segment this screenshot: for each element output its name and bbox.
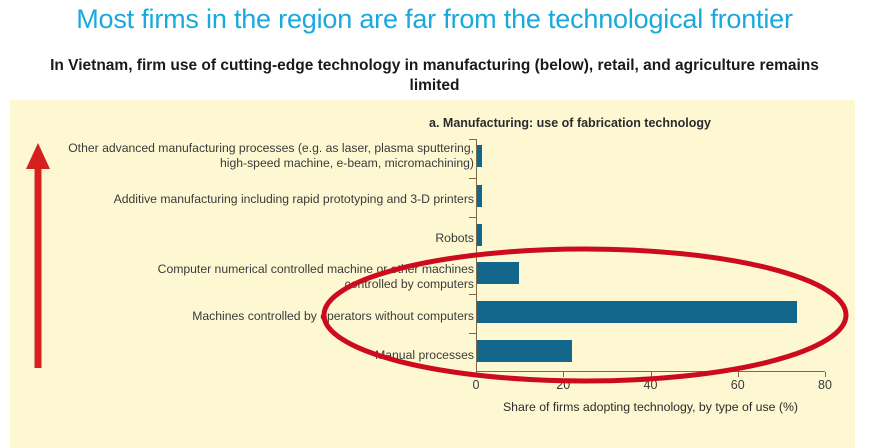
x-tick-label-3: 60 <box>718 378 758 392</box>
category-label-4-line-1: Machines controlled by operators without… <box>44 309 474 324</box>
category-label-1: Additive manufacturing including rapid p… <box>44 192 474 207</box>
y-tick-1 <box>469 178 476 179</box>
x-tick-label-1: 20 <box>543 378 583 392</box>
x-tick-4 <box>825 372 826 377</box>
y-tick-2 <box>469 217 476 218</box>
category-label-0-line-1: Other advanced manufacturing processes (… <box>44 141 474 156</box>
figure-panel: a. Manufacturing: use of fabrication tec… <box>10 100 855 448</box>
y-tick-top <box>469 139 476 140</box>
x-tick-label-4: 80 <box>805 378 845 392</box>
bar-2 <box>477 224 482 246</box>
x-tick-0 <box>476 372 477 377</box>
category-label-3-line-2: controlled by computers <box>44 277 474 292</box>
category-label-0: Other advanced manufacturing processes (… <box>44 141 474 171</box>
x-tick-label-2: 40 <box>631 378 671 392</box>
category-label-3-line-1: Computer numerical controlled machine or… <box>44 262 474 277</box>
bar-4 <box>477 301 797 323</box>
page-subtitle: In Vietnam, firm use of cutting-edge tec… <box>40 56 829 96</box>
page-title: Most firms in the region are far from th… <box>0 2 869 36</box>
x-tick-1 <box>563 372 564 377</box>
x-tick-3 <box>738 372 739 377</box>
y-tick-4 <box>469 294 476 295</box>
bar-chart-plot: Other advanced manufacturing processes (… <box>10 100 855 448</box>
bar-0 <box>477 145 482 167</box>
y-tick-5 <box>469 333 476 334</box>
bar-3 <box>477 262 519 284</box>
category-label-2-line-1: Robots <box>44 231 474 246</box>
bar-5 <box>477 340 572 362</box>
x-axis-title: Share of firms adopting technology, by t… <box>476 400 825 414</box>
category-label-2: Robots <box>44 231 474 246</box>
y-tick-3 <box>469 256 476 257</box>
x-tick-label-0: 0 <box>456 378 496 392</box>
category-label-5: Manual processes <box>44 348 474 363</box>
category-label-5-line-1: Manual processes <box>44 348 474 363</box>
category-label-3: Computer numerical controlled machine or… <box>44 262 474 292</box>
x-tick-2 <box>651 372 652 377</box>
y-axis-line <box>476 139 477 372</box>
bar-1 <box>477 185 482 207</box>
category-label-4: Machines controlled by operators without… <box>44 309 474 324</box>
category-label-0-line-2: high-speed machine, e-beam, micromachini… <box>44 156 474 171</box>
category-label-1-line-1: Additive manufacturing including rapid p… <box>44 192 474 207</box>
